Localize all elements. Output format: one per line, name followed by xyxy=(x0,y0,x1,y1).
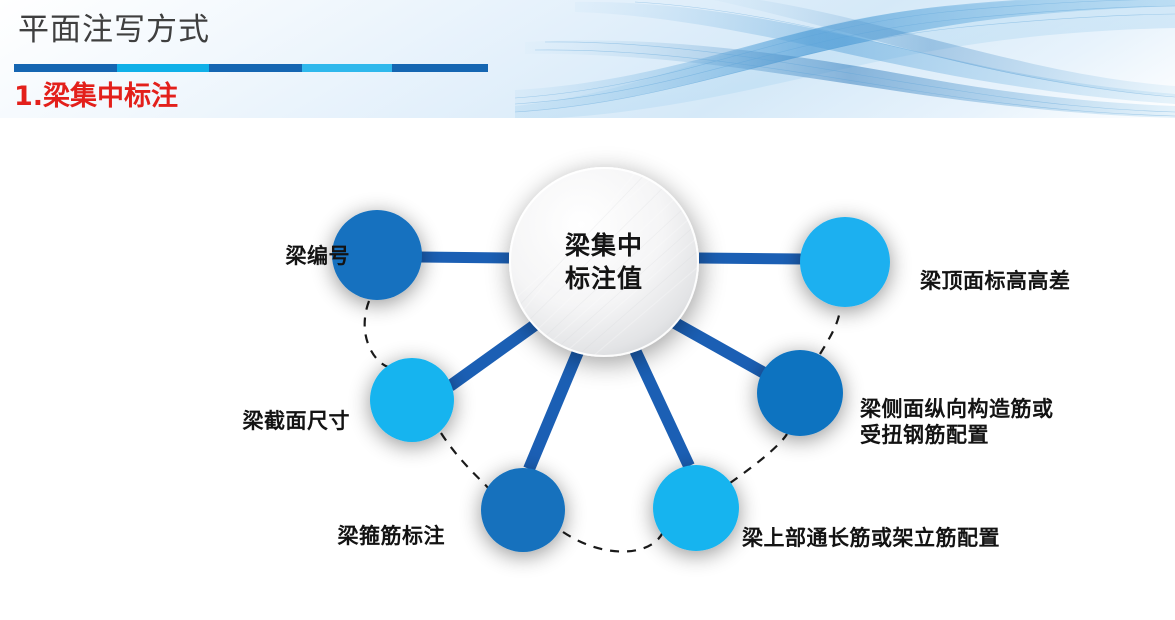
title-divider-bar xyxy=(14,64,488,72)
divider-segment-3 xyxy=(209,64,302,72)
label-liang-ce-mian-zong-xiang-gou-zao-jin: 梁侧面纵向构造筋或 受扭钢筋配置 xyxy=(860,396,1160,448)
divider-segment-4 xyxy=(302,64,392,72)
label-liang-ding-mian-biao-gao-gao-cha: 梁顶面标高高差 xyxy=(920,268,1170,294)
spoke-to-liang-shang-bu xyxy=(634,348,689,466)
spoke-to-liang-ce-mian xyxy=(675,323,766,374)
hub-label: 梁集中 标注值 xyxy=(509,229,699,295)
divider-segment-1 xyxy=(14,64,117,72)
spoke-to-liang-bian-hao xyxy=(420,257,509,258)
node-circle-liang-gu-jin xyxy=(481,468,565,552)
hub-and-spoke-diagram: 梁集中 标注值 梁编号 梁顶面标高高差 梁截面尺寸 梁侧面纵向构造筋或 受扭钢筋… xyxy=(0,118,1175,620)
arc-cemian-to-dingmian xyxy=(820,309,840,354)
slide-canvas: 平面注写方式 1.梁集中标注 xyxy=(0,0,1175,620)
divider-segment-2 xyxy=(117,64,209,72)
slide-header: 平面注写方式 1.梁集中标注 xyxy=(0,0,1175,118)
label-liang-gu-jin-biao-zhu: 梁箍筋标注 xyxy=(240,523,445,549)
arc-jiemian-to-gujin xyxy=(441,433,488,489)
decorative-wave-graphic xyxy=(515,0,1175,118)
page-title: 平面注写方式 xyxy=(18,8,210,52)
node-circle-liang-ding-mian xyxy=(800,217,890,307)
spoke-to-liang-gu-jin xyxy=(529,347,580,469)
divider-segment-5 xyxy=(392,64,488,72)
label-liang-shang-bu-tong-chang-jin: 梁上部通长筋或架立筋配置 xyxy=(742,525,1162,551)
node-circle-liang-shang-bu xyxy=(653,465,739,551)
arc-bianhao-to-jiemian xyxy=(365,301,388,367)
section-subtitle: 1.梁集中标注 xyxy=(14,78,178,116)
arc-gujin-to-shangbu xyxy=(563,532,663,552)
label-liang-bian-hao: 梁编号 xyxy=(200,243,350,269)
label-liang-jie-mian-chi-cun: 梁截面尺寸 xyxy=(150,408,350,434)
arc-shangbu-to-cemian xyxy=(730,434,787,483)
node-circle-liang-ce-mian xyxy=(757,350,843,436)
spoke-to-liang-ding-mian xyxy=(699,258,802,259)
node-circle-liang-jie-mian xyxy=(370,358,454,442)
spoke-to-liang-jie-mian xyxy=(450,325,535,386)
